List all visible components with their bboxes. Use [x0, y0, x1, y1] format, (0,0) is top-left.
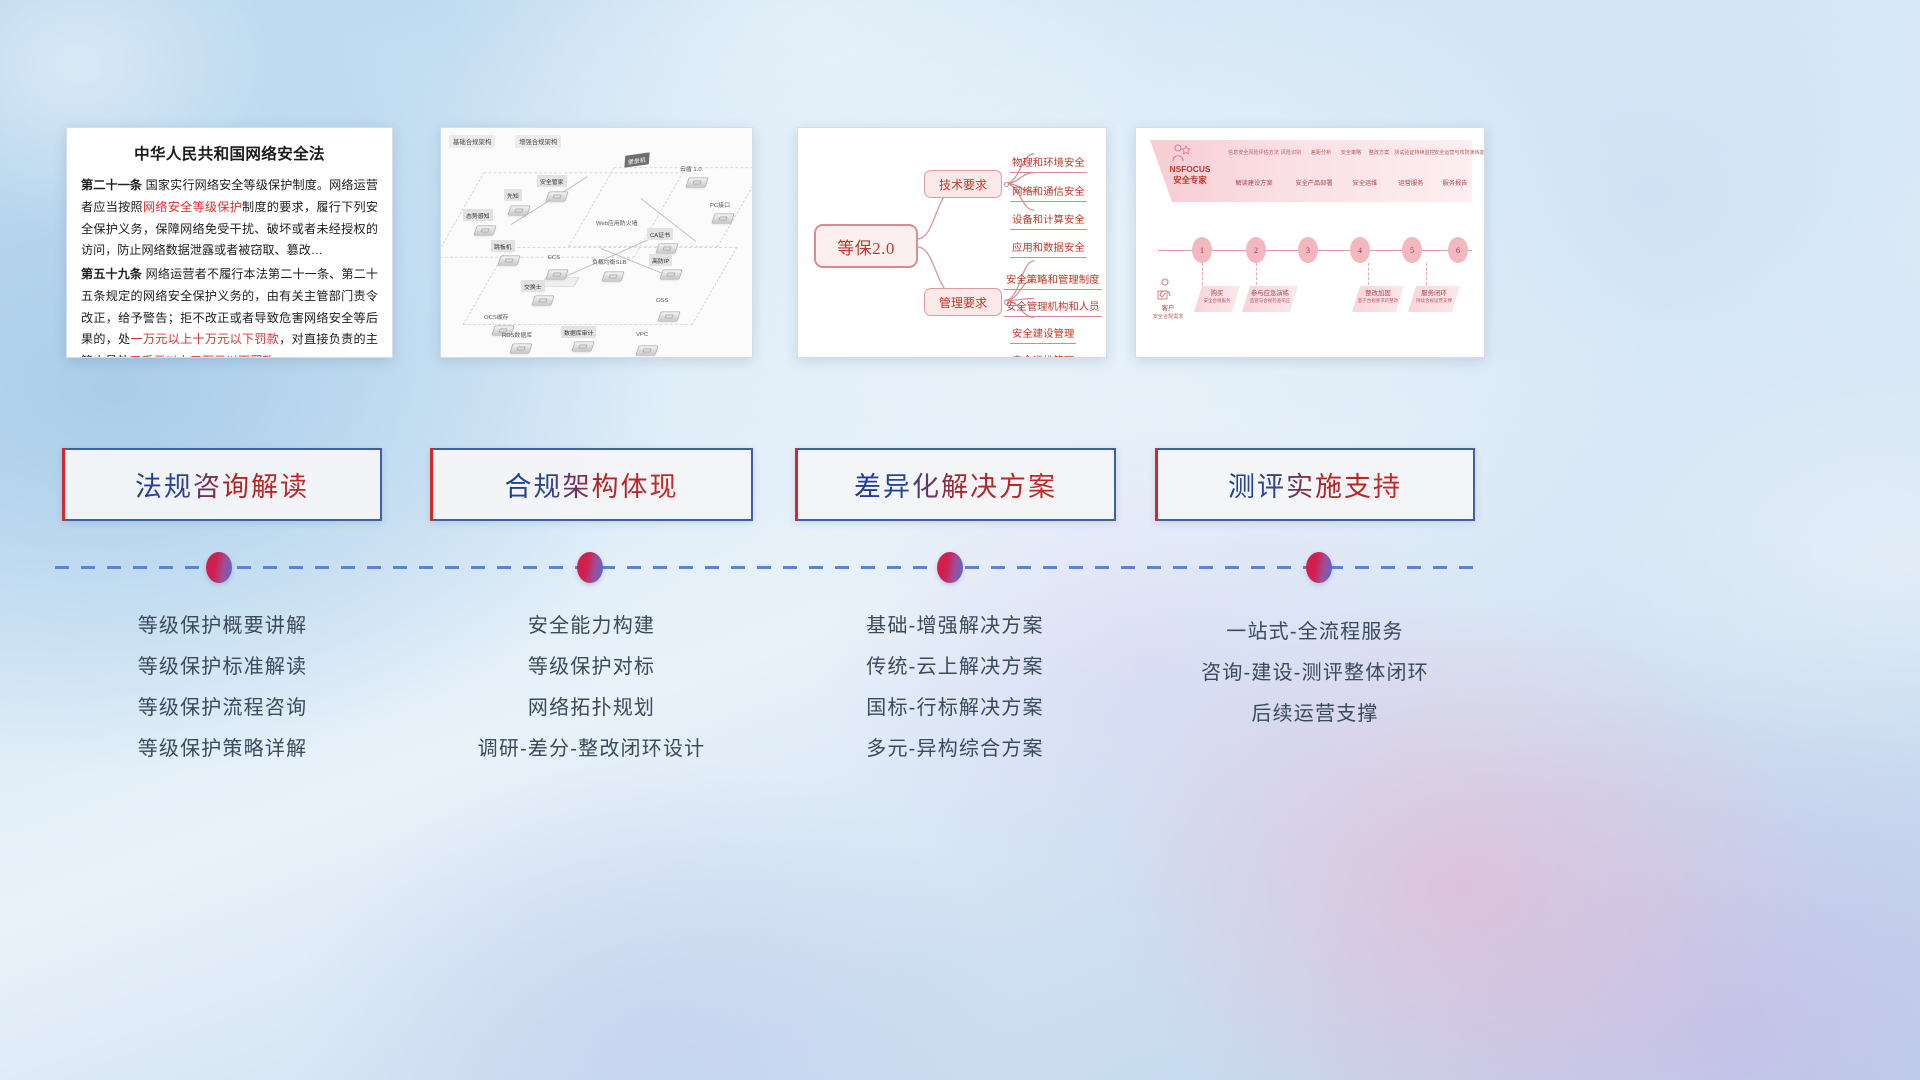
- list-item: 后续运营支撑: [1150, 694, 1480, 735]
- list-item: 安全能力构建: [425, 606, 758, 647]
- arch-cube: [685, 177, 708, 187]
- arch-cube: [711, 213, 734, 223]
- architecture-diagram: 基础合规架构 增强合规架构 堡垒机 安全管家 先知 态势感知 跳板机: [441, 128, 752, 357]
- nsfocus-top-tag: 整改方案: [1366, 150, 1392, 157]
- nsfocus-step-6[interactable]: 6: [1448, 237, 1468, 263]
- nsfocus-customer-sub: 安全合规需求: [1144, 314, 1192, 321]
- column-assessment-support-items: 一站式-全流程服务 咨询-建设-测评整体闭环 后续运营支撑: [1150, 612, 1480, 735]
- nsfocus-chip-title: 整改加固: [1352, 286, 1404, 298]
- arch-node-ocs-cache[interactable]: OCS缓存: [481, 310, 512, 322]
- arch-node-xianzhi[interactable]: 先知: [504, 189, 522, 201]
- nsfocus-step-2[interactable]: 2: [1246, 237, 1266, 263]
- nsfocus-top-tag: 测试验证持续监控: [1394, 150, 1434, 157]
- arch-node-ca-cert[interactable]: CA证书: [647, 228, 673, 240]
- column-regulation-consulting-items: 等级保护概要讲解 等级保护标准解读 等级保护流程咨询 等级保护策略详解: [60, 606, 385, 770]
- nsfocus-step-5[interactable]: 5: [1402, 237, 1422, 263]
- law-article-21-label: 第二十一条: [81, 178, 142, 192]
- mindmap-collapse-dot-technical[interactable]: [1004, 182, 1009, 187]
- banner-differentiated-solution[interactable]: 差异化解决方案: [795, 448, 1116, 521]
- nsfocus-brand: NSFOCUS 安全专家: [1158, 164, 1222, 187]
- list-item: 调研-差分-整改闭环设计: [425, 729, 758, 770]
- nsfocus-stage-label: 服务报告: [1432, 180, 1478, 189]
- timeline-dot-4[interactable]: [1306, 552, 1332, 583]
- mindmap-leaf-physical-env: 物理和环境安全: [1010, 156, 1087, 173]
- mindmap-leaf-operations: 安全运维管理: [1010, 354, 1076, 358]
- arch-node-anti-ddos[interactable]: 高防IP: [649, 254, 672, 266]
- nsfocus-chip-purchase[interactable]: 购买 安全合规服务: [1194, 286, 1240, 312]
- nsfocus-dashed-link: [1368, 263, 1369, 285]
- arch-tab-basic[interactable]: 基础合规架构: [449, 135, 495, 148]
- arch-node-label: VPC: [633, 330, 651, 339]
- banner-assessment-support[interactable]: 测评实施支持: [1155, 448, 1475, 521]
- list-item: 基础-增强解决方案: [790, 606, 1120, 647]
- nsfocus-brand-line1: NSFOCUS: [1158, 164, 1222, 175]
- banner-label: 差异化解决方案: [854, 465, 1057, 504]
- arch-node-waf[interactable]: Web应用防火墙: [593, 216, 640, 228]
- arch-node-label: 态势感知: [463, 209, 493, 221]
- arch-cube: [531, 295, 554, 305]
- arch-node-label: 负载均衡SLB: [589, 255, 630, 267]
- arch-cube: [657, 311, 680, 321]
- arch-node-pc-interface[interactable]: PC接口: [707, 198, 733, 210]
- nsfocus-chip-title: 参与应急演练: [1242, 286, 1298, 298]
- list-item: 网络拓扑规划: [425, 688, 758, 729]
- list-item: 传统-云上解决方案: [790, 647, 1120, 688]
- customer-person-icon: [1156, 278, 1176, 300]
- list-item: 国标-行标解决方案: [790, 688, 1120, 729]
- arch-node-label: ECS: [545, 253, 563, 262]
- mindmap-leaf-policy-system: 安全策略和管理制度: [1004, 273, 1102, 290]
- nsfocus-chip-sub: 基于合规要求的整改: [1352, 298, 1404, 303]
- arch-node-switch[interactable]: 交换士: [521, 280, 545, 292]
- arch-node-label: 数据库审计: [561, 326, 596, 338]
- nsfocus-chip-title: 购买: [1194, 286, 1240, 298]
- arch-node-label: 高防IP: [649, 254, 672, 266]
- banner-label: 测评实施支持: [1228, 465, 1402, 504]
- arch-node-label: OSS: [653, 296, 671, 305]
- nsfocus-chip-title: 服务闭环: [1408, 286, 1460, 298]
- timeline-dot-2[interactable]: [577, 552, 603, 583]
- card-cybersecurity-law[interactable]: 中华人民共和国网络安全法 第二十一条 国家实行网络安全等级保护制度。网络运营者应…: [66, 127, 393, 358]
- nsfocus-chip-rectify[interactable]: 整改加固 基于合规要求的整改: [1352, 286, 1404, 312]
- nsfocus-chip-sub: 监管与合规检查响应: [1242, 298, 1298, 303]
- arch-node-label: 堡垒机: [624, 152, 649, 167]
- law-document-body: 中华人民共和国网络安全法 第二十一条 国家实行网络安全等级保护制度。网络运营者应…: [67, 128, 392, 358]
- nsfocus-step-3[interactable]: 3: [1298, 237, 1318, 263]
- arch-cube: [545, 191, 568, 201]
- nsfocus-top-tag: 信息安全风险评估方法: [1228, 150, 1274, 157]
- column-compliance-architecture-items: 安全能力构建 等级保护对标 网络拓扑规划 调研-差分-整改闭环设计: [425, 606, 758, 770]
- nsfocus-customer-label: 客户: [1150, 304, 1186, 313]
- arch-cube: [473, 225, 496, 235]
- banner-label: 法规咨询解读: [135, 465, 309, 504]
- nsfocus-chip-sub: 安全合规服务: [1194, 298, 1240, 303]
- mindmap-root-node[interactable]: 等保2.0: [814, 224, 918, 268]
- nsfocus-canvas: NSFOCUS 安全专家 信息安全风险评估方法 风险识别 差距分析 安全策略 整…: [1136, 128, 1484, 357]
- arch-cube: [497, 255, 520, 265]
- card-nsfocus-service-timeline[interactable]: NSFOCUS 安全专家 信息安全风险评估方法 风险识别 差距分析 安全策略 整…: [1135, 127, 1485, 358]
- arch-node-oss[interactable]: OSS: [653, 296, 671, 305]
- mindmap-leaf-device-compute: 设备和计算安全: [1010, 213, 1087, 230]
- arch-cube: [509, 343, 532, 353]
- law-article-59: 第五十九条 网络运营者不履行本法第二十一条、第二十五条规定的网络安全保护义务的，…: [81, 264, 378, 358]
- banner-compliance-architecture[interactable]: 合规架构体现: [430, 448, 753, 521]
- arch-node-label: 跳板机: [491, 240, 515, 252]
- list-item: 等级保护对标: [425, 647, 758, 688]
- arch-node-label: RDS数据库: [499, 328, 535, 340]
- banner-regulation-consulting[interactable]: 法规咨询解读: [62, 448, 382, 521]
- arch-node-label: CA证书: [647, 228, 673, 240]
- mindmap-leaf-construction: 安全建设管理: [1010, 327, 1076, 344]
- card-mindmap-dengbao[interactable]: 等保2.0 技术要求 物理和环境安全 网络和通信安全 设备和计算安全 应用和数据…: [797, 127, 1107, 358]
- mindmap-branch-technical[interactable]: 技术要求: [924, 170, 1002, 198]
- nsfocus-dashed-link: [1256, 263, 1257, 285]
- nsfocus-chip-closedloop[interactable]: 服务闭环 持续合规运营支撑: [1408, 286, 1460, 312]
- arch-node-label: OCS缓存: [481, 310, 512, 322]
- arch-node-label: 先知: [504, 189, 522, 201]
- arch-node-label: Web应用防火墙: [593, 216, 640, 228]
- list-item: 等级保护概要讲解: [60, 606, 385, 647]
- nsfocus-top-tag: 安全运营与攻防演练能力建设: [1434, 150, 1476, 157]
- list-item: 一站式-全流程服务: [1150, 612, 1480, 653]
- timeline-dashed-line: [55, 566, 1480, 569]
- arch-node-slb[interactable]: 负载均衡SLB: [589, 255, 630, 267]
- list-item: 等级保护标准解读: [60, 647, 385, 688]
- banner-label: 合规架构体现: [505, 465, 679, 504]
- law-article-59-label: 第五十九条: [81, 267, 142, 281]
- arch-node-rds[interactable]: RDS数据库: [499, 328, 535, 340]
- law-article-59-highlight-b: 五千元以上五万元以下罚款。: [129, 354, 286, 358]
- mindmap-leaf-network-comm: 网络和通信安全: [1010, 185, 1087, 202]
- nsfocus-stage-label: 安全产品部署: [1288, 180, 1340, 189]
- nsfocus-chip-drill[interactable]: 参与应急演练 监管与合规检查响应: [1242, 286, 1298, 312]
- nsfocus-stage-label: 安全运维: [1342, 180, 1388, 189]
- nsfocus-step-4[interactable]: 4: [1350, 237, 1370, 263]
- arch-cube: [655, 243, 678, 253]
- nsfocus-stage-label: 解读建设方案: [1228, 180, 1280, 189]
- arch-cube: [571, 341, 594, 351]
- nsfocus-top-tag: 安全策略: [1338, 150, 1364, 157]
- arch-node-vpc[interactable]: VPC: [633, 330, 651, 339]
- column-differentiated-solution-items: 基础-增强解决方案 传统-云上解决方案 国标-行标解决方案 多元-异构综合方案: [790, 606, 1120, 770]
- nsfocus-step-1[interactable]: 1: [1192, 237, 1212, 263]
- law-article-59-highlight-a: 一万元以上十万元以下罚款: [131, 332, 280, 346]
- arch-node-db-audit[interactable]: 数据库审计: [561, 326, 596, 338]
- law-article-21-highlight: 网络安全等级保护: [143, 200, 242, 214]
- nsfocus-chip-sub: 持续合规运营支撑: [1408, 298, 1460, 303]
- arch-node-ecs[interactable]: ECS: [545, 253, 563, 262]
- arch-node-situational-awareness[interactable]: 态势感知: [463, 209, 493, 221]
- nsfocus-top-tag: 风险识别: [1278, 150, 1304, 157]
- arch-node-label: 交换士: [521, 280, 545, 292]
- arch-cube: [507, 205, 530, 215]
- arch-node-label: 云盾 1.0: [677, 162, 705, 174]
- mindmap-branch-management[interactable]: 管理要求: [924, 288, 1002, 316]
- arch-node-label: 安全管家: [537, 175, 567, 187]
- list-item: 多元-异构综合方案: [790, 729, 1120, 770]
- mindmap-leaf-org-personnel: 安全管理机构和人员: [1004, 300, 1102, 317]
- nsfocus-brand-line2: 安全专家: [1158, 175, 1222, 186]
- arch-node-bastion[interactable]: 堡垒机: [624, 152, 649, 167]
- nsfocus-top-tag: 差距分析: [1308, 150, 1334, 157]
- nsfocus-stage-label: 运营服务: [1388, 180, 1434, 189]
- card-cloud-architecture[interactable]: 基础合规架构 增强合规架构 堡垒机 安全管家 先知 态势感知 跳板机: [440, 127, 753, 358]
- list-item: 等级保护流程咨询: [60, 688, 385, 729]
- arch-tab-enhanced[interactable]: 增强合规架构: [515, 135, 561, 148]
- law-title: 中华人民共和国网络安全法: [81, 142, 378, 164]
- arch-node-yundun[interactable]: 云盾 1.0: [677, 162, 705, 174]
- arch-node-security-manager[interactable]: 安全管家: [537, 175, 567, 187]
- arch-cube: [601, 271, 624, 281]
- expert-person-icon: [1170, 144, 1192, 164]
- arch-cube: [545, 269, 568, 279]
- nsfocus-dashed-link: [1426, 263, 1427, 285]
- nsfocus-dashed-link: [1202, 263, 1203, 285]
- timeline-dot-1[interactable]: [206, 552, 232, 583]
- law-article-21: 第二十一条 国家实行网络安全等级保护制度。网络运营者应当按照网络安全等级保护制度…: [81, 175, 378, 262]
- mindmap-canvas: 等保2.0 技术要求 物理和环境安全 网络和通信安全 设备和计算安全 应用和数据…: [798, 128, 1106, 357]
- arch-node-jumpserver[interactable]: 跳板机: [491, 240, 515, 252]
- timeline-dot-3[interactable]: [937, 552, 963, 583]
- list-item: 等级保护策略详解: [60, 729, 385, 770]
- arch-cube: [635, 345, 658, 355]
- mindmap-leaf-app-data: 应用和数据安全: [1010, 241, 1087, 258]
- arch-node-label: PC接口: [707, 198, 733, 210]
- list-item: 咨询-建设-测评整体闭环: [1150, 653, 1480, 694]
- arch-cube: [659, 269, 682, 279]
